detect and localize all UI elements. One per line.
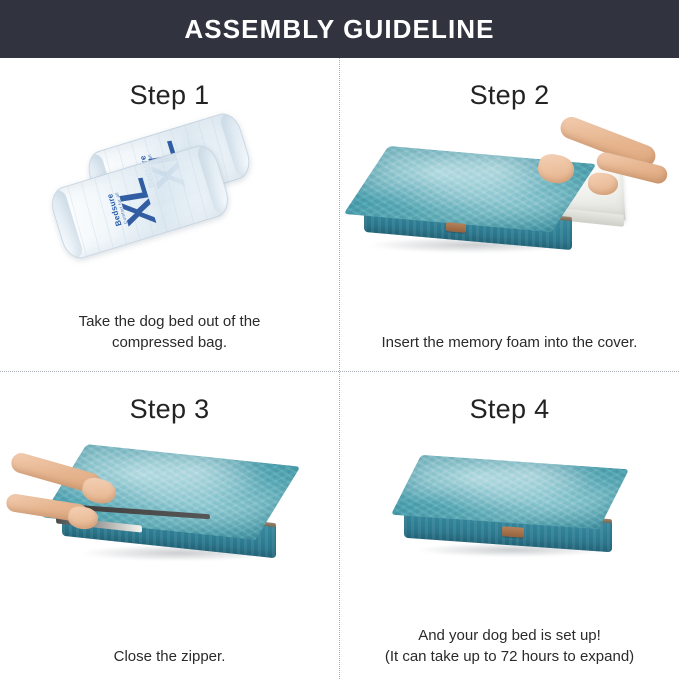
- step-1-caption: Take the dog bed out of the compressed b…: [20, 311, 320, 355]
- step-2-caption: Insert the memory foam into the cover.: [360, 332, 660, 354]
- step-card-4: Step 4 And your dog bed is set up! (It c…: [340, 372, 679, 679]
- step-1-title: Step 1: [130, 80, 210, 111]
- step-1-caption-line-1: Take the dog bed out of the: [79, 313, 261, 330]
- step-4-caption-line-2: (It can take up to 72 hours to expand): [360, 646, 660, 668]
- step-card-3: Step 3 Close the zipper.: [0, 372, 339, 679]
- bag-cap-right: [218, 109, 254, 178]
- dog-bed-graphic: [20, 433, 320, 598]
- step-2-caption-line-1: Insert the memory foam into the cover.: [382, 334, 638, 351]
- step-card-2: Step 2 Insert the memory foam in: [340, 58, 679, 368]
- step-4-caption-line-1: And your dog bed is set up!: [418, 627, 601, 644]
- brand-leather-tag: [502, 526, 524, 538]
- step-4-caption: And your dog bed is set up! (It can take…: [360, 625, 660, 669]
- dog-bed-graphic: [360, 433, 660, 598]
- step-3-illustration: [20, 433, 320, 598]
- step-card-1: Step 1 Bedsure Comfort for all XL Bedsur…: [0, 58, 339, 368]
- step-3-title: Step 3: [130, 394, 210, 425]
- page-title: ASSEMBLY GUIDELINE: [184, 14, 494, 45]
- bag-cap-left: [46, 188, 84, 263]
- steps-grid: Step 1 Bedsure Comfort for all XL Bedsur…: [0, 58, 679, 679]
- step-1-caption-line-2: compressed bag.: [20, 332, 320, 354]
- step-3-caption: Close the zipper.: [20, 646, 320, 668]
- assembly-guideline-page: ASSEMBLY GUIDELINE Step 1 Bedsure Comfor…: [0, 0, 679, 679]
- step-4-illustration: [360, 433, 660, 598]
- brand-leather-tag: [446, 222, 466, 233]
- step-4-title: Step 4: [470, 394, 550, 425]
- step-1-illustration: Bedsure Comfort for all XL Bedsure Comfo…: [20, 119, 320, 284]
- dog-bed-graphic: [360, 119, 660, 284]
- header-bar: ASSEMBLY GUIDELINE: [0, 0, 679, 58]
- step-3-caption-line-1: Close the zipper.: [114, 648, 226, 665]
- step-2-illustration: [360, 119, 660, 284]
- step-2-title: Step 2: [470, 80, 550, 111]
